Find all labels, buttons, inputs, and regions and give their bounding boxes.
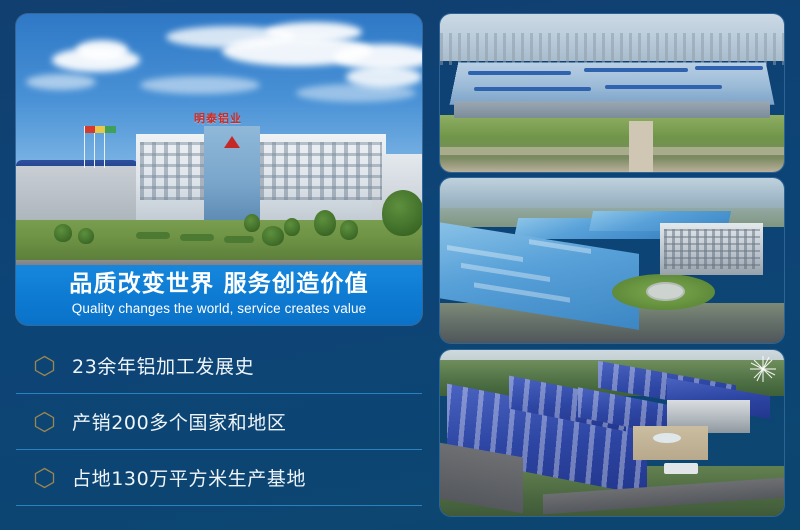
- entrance-plaza: [633, 426, 709, 459]
- office-window-grid: [664, 229, 760, 269]
- distant-cityscape: [440, 33, 784, 65]
- tree: [78, 228, 94, 244]
- hexagon-outline-icon: [34, 355, 55, 377]
- cloud-shape: [266, 22, 362, 42]
- hedge: [224, 236, 254, 243]
- hero-photo: 明泰铝业 品质改变世界 服务创造价值 Quality changes the w…: [16, 14, 422, 325]
- roof-sign-text: 明泰铝业: [194, 110, 242, 126]
- industrial-park-rendering-photo: [440, 350, 784, 516]
- fountain: [653, 433, 681, 443]
- cloud-shape: [346, 66, 422, 88]
- right-column: [440, 14, 784, 516]
- hexagon-outline-icon: [34, 467, 55, 489]
- tree: [244, 214, 260, 232]
- roof-ridge: [468, 71, 571, 75]
- cloud-shape: [76, 40, 128, 60]
- feature-label: 23余年铝加工发展史: [72, 352, 254, 379]
- slogan-chinese: 品质改变世界 服务创造价值: [16, 270, 422, 299]
- feature-item[interactable]: 23余年铝加工发展史: [16, 338, 422, 394]
- tree: [54, 224, 72, 242]
- left-wing-building: [16, 166, 138, 220]
- roof-ridge: [605, 85, 722, 89]
- cloud-shape: [140, 76, 260, 94]
- tree: [340, 220, 358, 240]
- hedge: [180, 234, 214, 241]
- company-profile-page: 明泰铝业 品质改变世界 服务创造价值 Quality changes the w…: [0, 0, 800, 530]
- roof-ridge: [584, 68, 687, 72]
- building-window-grid: [140, 142, 382, 200]
- feature-list: 23余年铝加工发展史 产销200多个国家和地区 占地130万平方米生产基地: [16, 338, 422, 506]
- tree: [262, 226, 284, 246]
- hexagon-outline-icon: [34, 411, 55, 433]
- entrance-gate: [664, 463, 698, 475]
- flag: [105, 126, 116, 133]
- circular-plaza: [646, 282, 684, 301]
- tree: [382, 190, 422, 236]
- ground-greenery: [440, 115, 784, 172]
- roof-ridge: [474, 87, 591, 91]
- access-road: [440, 147, 784, 155]
- factory-wall: [454, 101, 770, 118]
- aerial-plant-campus-photo: [440, 178, 784, 343]
- hedge: [136, 232, 170, 239]
- tree: [284, 218, 300, 236]
- feature-item[interactable]: 占地130万平方米生产基地: [16, 450, 422, 506]
- tree: [314, 210, 336, 236]
- slogan-banner: 品质改变世界 服务创造价值 Quality changes the world,…: [16, 265, 422, 325]
- aerial-factory-overview-photo: [440, 14, 784, 172]
- slogan-english: Quality changes the world, service creat…: [16, 299, 422, 318]
- feature-item[interactable]: 产销200多个国家和地区: [16, 394, 422, 450]
- left-column: 明泰铝业 品质改变世界 服务创造价值 Quality changes the w…: [16, 14, 422, 516]
- cloud-shape: [26, 74, 96, 90]
- feature-label: 产销200多个国家和地区: [72, 408, 286, 435]
- roof-ridge: [695, 66, 764, 70]
- feature-label: 占地130万平方米生产基地: [72, 464, 306, 491]
